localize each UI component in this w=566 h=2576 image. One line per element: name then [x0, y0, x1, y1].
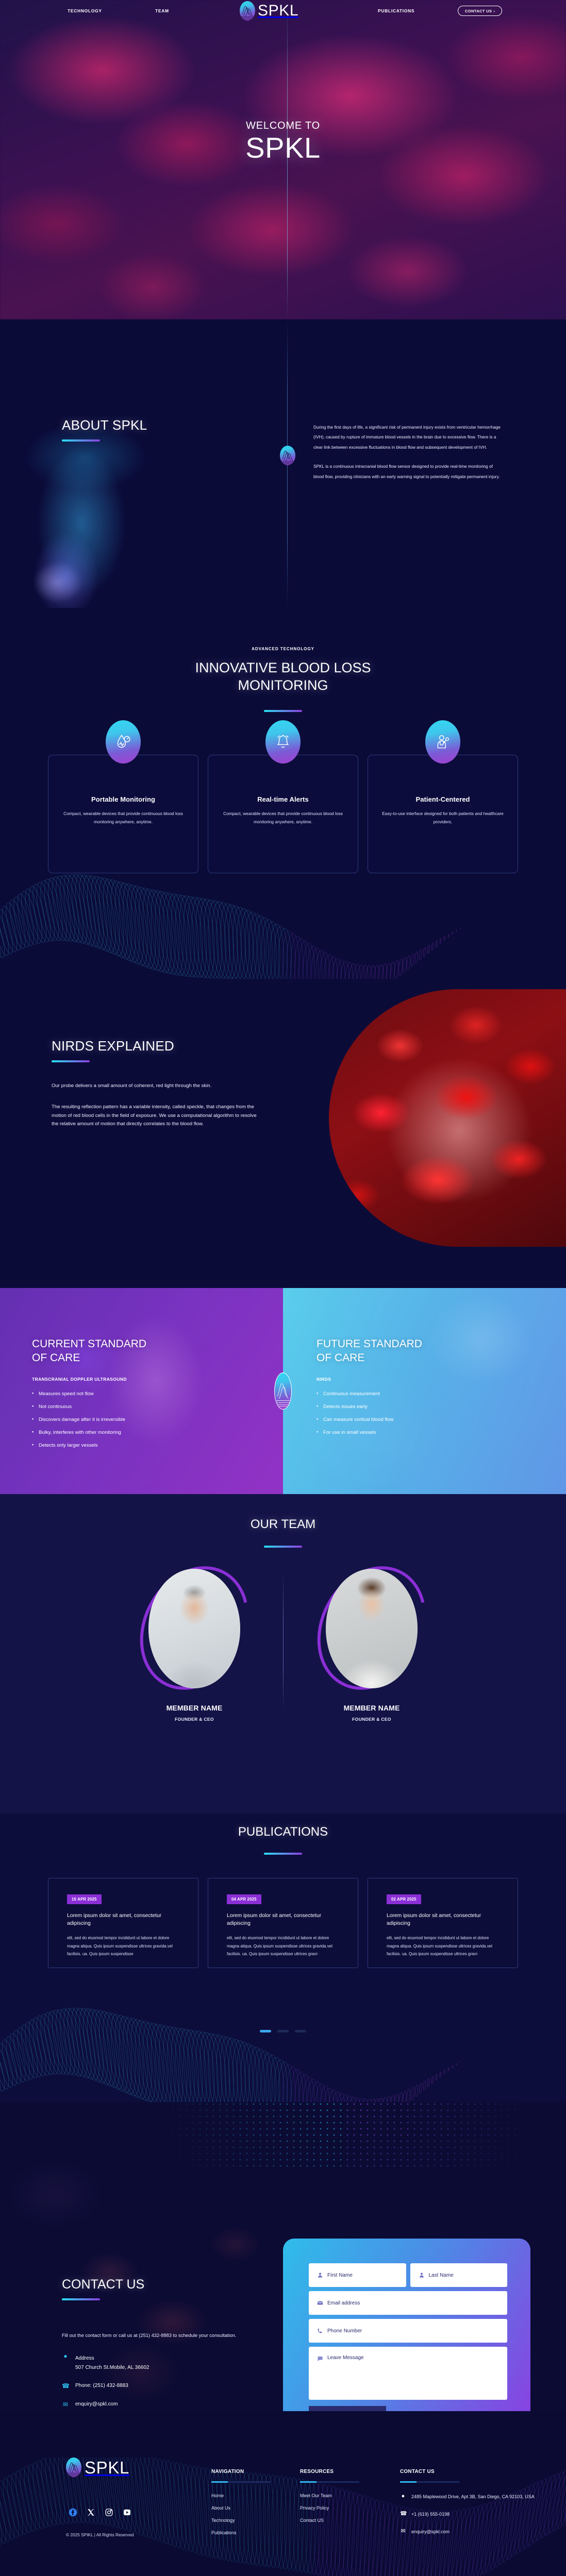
- feature-card-title: Portable Monitoring: [48, 795, 198, 803]
- hero-title: SPKL: [245, 133, 320, 163]
- team-section: OUR TEAM MEMBER NAME FOUNDER & CEO MEMBE…: [0, 1494, 566, 1814]
- first-name-field[interactable]: First Name: [309, 2263, 406, 2287]
- footer-link-contact-us[interactable]: Contact US: [300, 2518, 359, 2523]
- contact-form: First Name Last Name Email address Phone…: [283, 2239, 530, 2411]
- social-links: [69, 2508, 131, 2517]
- future-standard-bullets: Continuous measurement Detects issues ea…: [317, 1391, 538, 1435]
- bullet-item: Bulky, interferes with other monitoring: [32, 1430, 254, 1435]
- nav-link-team[interactable]: TEAM: [155, 8, 169, 13]
- nav-link-publications[interactable]: PUBLICATIONS: [378, 8, 414, 13]
- contact-address-label: Address: [75, 2355, 94, 2361]
- footer-link-meet-our-team[interactable]: Meet Our Team: [300, 2493, 359, 2498]
- first-name-placeholder: First Name: [327, 2273, 353, 2278]
- team-member-role: FOUNDER & CEO: [307, 1717, 436, 1722]
- youtube-icon[interactable]: [123, 2508, 131, 2517]
- main-navbar: TECHNOLOGY TEAM PUBLICATIONS SPKL CONTAC…: [0, 0, 566, 22]
- footer-email-row[interactable]: ✉ enquiry@spkl.com: [400, 2528, 535, 2535]
- future-standard-subtitle: NIRDS: [317, 1377, 538, 1382]
- footer-wordmark: SPKL: [85, 2459, 129, 2476]
- carousel-dot-1[interactable]: [260, 2030, 271, 2032]
- spkl-logo-icon: [240, 1, 255, 21]
- about-accent-rule: [62, 439, 100, 442]
- contact-email-value: enquiry@spkl.com: [75, 2401, 118, 2407]
- feature-card-list: Portable Monitoring Compact, wearable de…: [0, 755, 566, 873]
- footer-column-contact: CONTACT US ● 2485 Maplewood Drive, Apt 3…: [400, 2469, 535, 2536]
- last-name-placeholder: Last Name: [429, 2273, 454, 2278]
- publication-card[interactable]: 02 APR 2025 Lorem ipsum dolor sit amet, …: [368, 1878, 518, 1968]
- future-standard-panel: FUTURE STANDARD OF CARE NIRDS Continuous…: [283, 1288, 566, 1494]
- feature-card-text: Compact, wearable devices that provide c…: [61, 809, 185, 826]
- avatar: [326, 1569, 418, 1688]
- future-standard-title-line1: FUTURE STANDARD: [317, 1338, 422, 1350]
- footer-phone: +1 (619) 555-0198: [411, 2511, 450, 2518]
- brand-logo[interactable]: SPKL: [240, 1, 298, 21]
- contact-us-button[interactable]: CONTACT US ›: [458, 6, 502, 16]
- anatomy-illustration: [0, 376, 211, 608]
- about-paragraph-2: SPKL is a continuous intracranial blood …: [313, 462, 504, 482]
- nav-link-technology[interactable]: TECHNOLOGY: [68, 8, 102, 13]
- person-icon: [317, 2272, 323, 2278]
- feature-card-realtime-alerts[interactable]: Real-time Alerts Compact, wearable devic…: [208, 755, 358, 873]
- publication-excerpt: elit, sed do eiusmod tempor incididunt u…: [67, 1934, 179, 1958]
- chevron-right-icon: ›: [493, 9, 495, 13]
- bullet-item: Detects only larger vessels: [32, 1443, 254, 1448]
- spkl-badge-icon: [280, 446, 295, 465]
- features-section: ADVANCED TECHNOLOGY INNOVATIVE BLOOD LOS…: [0, 608, 566, 907]
- future-standard-title-line2: OF CARE: [317, 1352, 364, 1364]
- future-standard-title: FUTURE STANDARD OF CARE: [317, 1337, 538, 1365]
- last-name-field[interactable]: Last Name: [410, 2263, 508, 2287]
- dot-grid-decoration: [170, 2102, 531, 2184]
- feature-card-patient-centered[interactable]: Patient-Centered Easy-to-use interface d…: [368, 755, 518, 873]
- site-footer: SPKL © 2025 SPIKL | All Rights Reserved …: [0, 2411, 566, 2576]
- bullet-item: For use in small vessels: [317, 1430, 538, 1435]
- hero-kicker: WELCOME TO: [246, 120, 320, 132]
- doctor-stethoscope-icon: [425, 720, 460, 764]
- phone-placeholder: Phone Number: [327, 2328, 362, 2334]
- nirds-accent-rule: [52, 1060, 90, 1062]
- nirds-paragraph-1: Our probe delivers a small amount of coh…: [52, 1082, 258, 1091]
- message-placeholder: Leave Message: [327, 2355, 364, 2361]
- nirds-content: NIRDS EXPLAINED Our probe delivers a sma…: [52, 1038, 258, 1129]
- blood-cells-image: [329, 989, 566, 1247]
- spkl-logo-icon: [66, 2458, 81, 2477]
- team-title: OUR TEAM: [0, 1517, 566, 1532]
- current-standard-subtitle: TRANSCRANIAL DOPPLER ULTRASOUND: [32, 1377, 254, 1382]
- contact-us-button-label: CONTACT US: [465, 9, 492, 13]
- contact-info-block: CONTACT US Fill out the contact form or …: [62, 2277, 284, 2408]
- about-section: ABOUT SPKL During the first days of life…: [0, 319, 566, 608]
- phone-icon: ☎: [400, 2511, 406, 2517]
- publication-card[interactable]: 10 APR 2025 Lorem ipsum dolor sit amet, …: [48, 1878, 198, 1968]
- x-twitter-icon[interactable]: [87, 2508, 95, 2517]
- footer-column-navigation: NAVIGATION Home About Us Technology Publ…: [211, 2469, 271, 2543]
- message-field[interactable]: Leave Message: [309, 2347, 507, 2400]
- contact-address-value: 507 Church St.Mobile, AL 36602: [75, 2365, 149, 2370]
- current-standard-title-line1: CURRENT STANDARD: [32, 1338, 146, 1350]
- features-accent-rule: [264, 710, 302, 712]
- bullet-item: Measures speed not flow: [32, 1391, 254, 1397]
- footer-email: enquiry@spkl.com: [411, 2528, 450, 2535]
- team-member-card[interactable]: MEMBER NAME FOUNDER & CEO: [307, 1564, 436, 1722]
- footer-brand-logo[interactable]: SPKL: [66, 2458, 129, 2477]
- current-standard-panel: CURRENT STANDARD OF CARE TRANSCRANIAL DO…: [0, 1288, 283, 1494]
- about-heading-block: ABOUT SPKL: [62, 417, 147, 442]
- publication-title: Lorem ipsum dolor sit amet, consectetur …: [387, 1912, 499, 1927]
- chat-bubble-icon: [317, 2355, 323, 2362]
- footer-address: 2485 Maplewood Drive, Apt 3B, San Diego,…: [411, 2493, 535, 2500]
- feature-card-text: Compact, wearable devices that provide c…: [221, 809, 345, 826]
- publication-title: Lorem ipsum dolor sit amet, consectetur …: [227, 1912, 339, 1927]
- team-member-name: MEMBER NAME: [130, 1704, 259, 1712]
- standard-of-care-comparison: CURRENT STANDARD OF CARE TRANSCRANIAL DO…: [0, 1288, 566, 1494]
- bullet-item: Discovers damage after it is irreversibl…: [32, 1417, 254, 1422]
- footer-link-about-us[interactable]: About Us: [211, 2505, 271, 2511]
- team-member-name: MEMBER NAME: [307, 1704, 436, 1712]
- footer-column-heading: NAVIGATION: [211, 2469, 271, 2475]
- footer-column-resources: RESOURCES Meet Our Team Privacy Policy C…: [300, 2469, 359, 2530]
- hero-content: WELCOME TO SPKL: [0, 0, 566, 319]
- contact-accent-rule: [62, 2298, 100, 2300]
- publication-date-badge: 10 APR 2025: [67, 1894, 102, 1904]
- contact-lead-text: Fill out the contact form or call us at …: [62, 2330, 284, 2341]
- features-title-line2: MONITORING: [238, 677, 328, 693]
- feature-card-portable-monitoring[interactable]: Portable Monitoring Compact, wearable de…: [48, 755, 198, 873]
- carousel-dot-3[interactable]: [295, 2030, 306, 2032]
- features-kicker: ADVANCED TECHNOLOGY: [0, 647, 566, 651]
- feature-card-text: Easy-to-use interface designed for both …: [381, 809, 505, 826]
- publications-accent-rule: [264, 1853, 302, 1855]
- instagram-icon[interactable]: [105, 2508, 113, 2517]
- footer-link-publications[interactable]: Publications: [211, 2530, 271, 2535]
- contact-heading: CONTACT US: [62, 2277, 284, 2292]
- about-paragraph-1: During the first days of life, a signifi…: [313, 422, 504, 452]
- about-heading: ABOUT SPKL: [62, 417, 147, 433]
- location-pin-icon: ●: [400, 2493, 406, 2500]
- feature-card-title: Real-time Alerts: [208, 795, 358, 803]
- bullet-item: Detects issues early: [317, 1404, 538, 1410]
- contact-address-row: ● Address 507 Church St.Mobile, AL 36602: [62, 2353, 284, 2370]
- footer-column-rule: [211, 2481, 271, 2483]
- footer-address-row: ● 2485 Maplewood Drive, Apt 3B, San Dieg…: [400, 2493, 535, 2500]
- features-title: INNOVATIVE BLOOD LOSS MONITORING: [0, 659, 566, 694]
- footer-copyright: © 2025 SPIKL | All Rights Reserved: [66, 2532, 134, 2537]
- bell-icon: [265, 720, 301, 764]
- bullet-item: Can measure cortical blood flow: [317, 1417, 538, 1422]
- team-accent-rule: [264, 1546, 302, 1548]
- publication-excerpt: elit, sed do eiusmod tempor incididunt u…: [387, 1934, 499, 1958]
- bullet-item: Continuous measurement: [317, 1391, 538, 1397]
- phone-icon: ☎: [62, 2383, 69, 2389]
- location-pin-icon: ●: [62, 2353, 69, 2359]
- contact-section: CONTACT US Fill out the contact form or …: [0, 2102, 566, 2411]
- facebook-icon[interactable]: [69, 2508, 77, 2517]
- team-member-role: FOUNDER & CEO: [130, 1717, 259, 1722]
- bullet-item: Not continuous: [32, 1404, 254, 1410]
- footer-link-privacy-policy[interactable]: Privacy Policy: [300, 2505, 359, 2511]
- nirds-section: NIRDS EXPLAINED Our probe delivers a sma…: [0, 979, 566, 1298]
- publication-excerpt: elit, sed do eiusmod tempor incididunt u…: [227, 1934, 339, 1958]
- brand-wordmark: SPKL: [258, 3, 298, 19]
- footer-column-heading: RESOURCES: [300, 2469, 359, 2475]
- team-member-list: MEMBER NAME FOUNDER & CEO MEMBER NAME FO…: [0, 1564, 566, 1722]
- features-title-line1: INNOVATIVE BLOOD LOSS: [195, 660, 371, 675]
- footer-column-rule: [400, 2481, 459, 2483]
- envelope-icon: ✉: [400, 2528, 406, 2535]
- publications-carousel-dots: [0, 2030, 566, 2032]
- contact-phone-row[interactable]: ☎ Phone: (251) 432-8883: [62, 2383, 284, 2389]
- publication-date-badge: 04 APR 2025: [227, 1894, 261, 1904]
- feature-card-title: Patient-Centered: [368, 795, 518, 803]
- footer-phone-row[interactable]: ☎ +1 (619) 555-0198: [400, 2511, 535, 2518]
- avatar: [148, 1569, 240, 1688]
- send-message-button[interactable]: SEND MESSAGE ›: [309, 2406, 386, 2411]
- hero-section: TECHNOLOGY TEAM PUBLICATIONS SPKL CONTAC…: [0, 0, 566, 319]
- nirds-paragraph-2: The resulting reflection pattern has a v…: [52, 1103, 258, 1129]
- nirds-heading: NIRDS EXPLAINED: [52, 1038, 258, 1054]
- publication-title: Lorem ipsum dolor sit amet, consectetur …: [67, 1912, 179, 1927]
- current-standard-title: CURRENT STANDARD OF CARE: [32, 1337, 254, 1365]
- publications-title: PUBLICATIONS: [0, 1825, 566, 1839]
- current-standard-bullets: Measures speed not flow Not continuous D…: [32, 1391, 254, 1448]
- email-placeholder: Email address: [327, 2300, 360, 2306]
- phone-icon: [317, 2328, 323, 2334]
- carousel-dot-2[interactable]: [277, 2030, 289, 2032]
- person-icon: [419, 2272, 425, 2278]
- footer-column-heading: CONTACT US: [400, 2469, 535, 2475]
- email-field[interactable]: Email address: [309, 2291, 507, 2315]
- envelope-icon: ✉: [62, 2401, 69, 2408]
- contact-email-row[interactable]: ✉ enquiry@spkl.com: [62, 2401, 284, 2408]
- envelope-icon: [317, 2300, 323, 2306]
- footer-link-technology[interactable]: Technology: [211, 2518, 271, 2523]
- publication-card-list: 10 APR 2025 Lorem ipsum dolor sit amet, …: [0, 1878, 566, 1968]
- droplet-gauge-icon: [106, 720, 141, 764]
- publication-date-badge: 02 APR 2025: [387, 1894, 421, 1904]
- phone-field[interactable]: Phone Number: [309, 2319, 507, 2343]
- current-standard-title-line2: OF CARE: [32, 1352, 80, 1364]
- team-member-card[interactable]: MEMBER NAME FOUNDER & CEO: [130, 1564, 259, 1722]
- contact-phone-value: Phone: (251) 432-8883: [75, 2383, 128, 2388]
- publication-card[interactable]: 04 APR 2025 Lorem ipsum dolor sit amet, …: [208, 1878, 358, 1968]
- about-text-block: During the first days of life, a signifi…: [313, 422, 504, 482]
- spkl-divider-badge-icon: [274, 1372, 292, 1410]
- footer-column-rule: [300, 2481, 359, 2483]
- footer-link-home[interactable]: Home: [211, 2493, 271, 2498]
